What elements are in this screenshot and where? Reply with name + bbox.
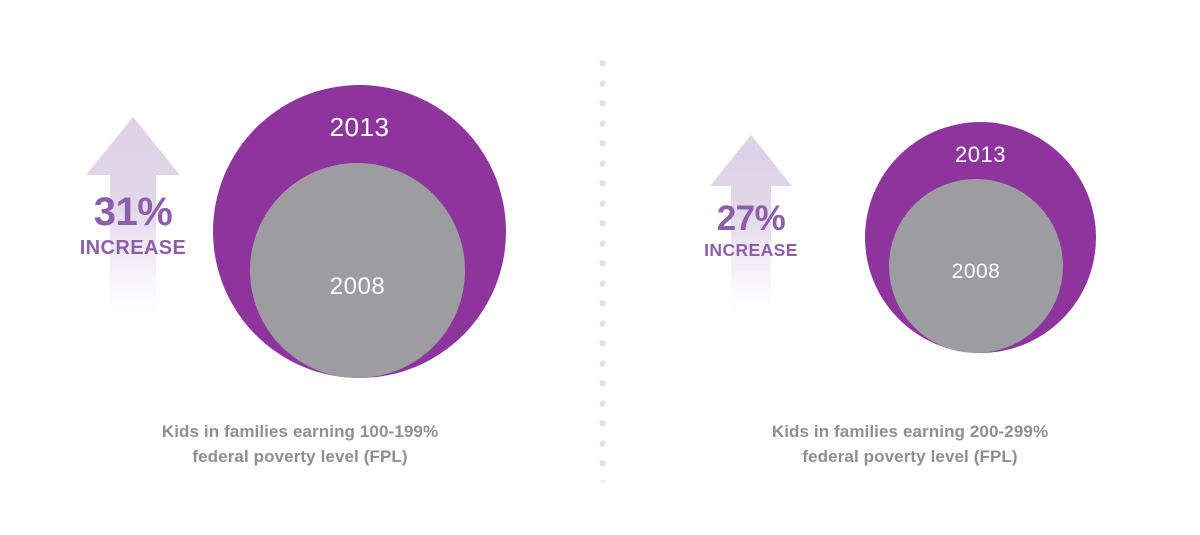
increase-label: INCREASE (38, 238, 228, 258)
circle-label-2008: 2008 (250, 273, 465, 301)
increase-percent-value: 27% (665, 201, 837, 236)
panel-200-299: 27% INCREASE 2013 2008 Kids in families … (600, 0, 1200, 535)
caption-line-1: Kids in families earning 200-299% (690, 420, 1130, 445)
proportional-circles-right: 2013 2008 (865, 122, 1096, 353)
circle-2008: 2008 (250, 163, 465, 378)
proportional-circles-left: 2013 2008 (213, 85, 506, 378)
increase-label: INCREASE (665, 242, 837, 260)
caption-right: Kids in families earning 200-299% federa… (690, 420, 1130, 469)
infographic-root: 31% INCREASE 2013 2008 Kids in families … (0, 0, 1200, 535)
caption-line-2: federal poverty level (FPL) (690, 445, 1130, 470)
circle-label-2013: 2013 (865, 142, 1096, 168)
circle-2008: 2008 (889, 179, 1063, 353)
increase-stat-right: 27% INCREASE (665, 201, 837, 260)
circle-label-2008: 2008 (889, 260, 1063, 284)
caption-line-1: Kids in families earning 100-199% (60, 420, 540, 445)
caption-line-2: federal poverty level (FPL) (60, 445, 540, 470)
increase-stat-left: 31% INCREASE (38, 192, 228, 258)
increase-percent-value: 31% (38, 192, 228, 232)
panel-100-199: 31% INCREASE 2013 2008 Kids in families … (0, 0, 600, 535)
circle-label-2013: 2013 (213, 112, 506, 143)
caption-left: Kids in families earning 100-199% federa… (60, 420, 540, 469)
